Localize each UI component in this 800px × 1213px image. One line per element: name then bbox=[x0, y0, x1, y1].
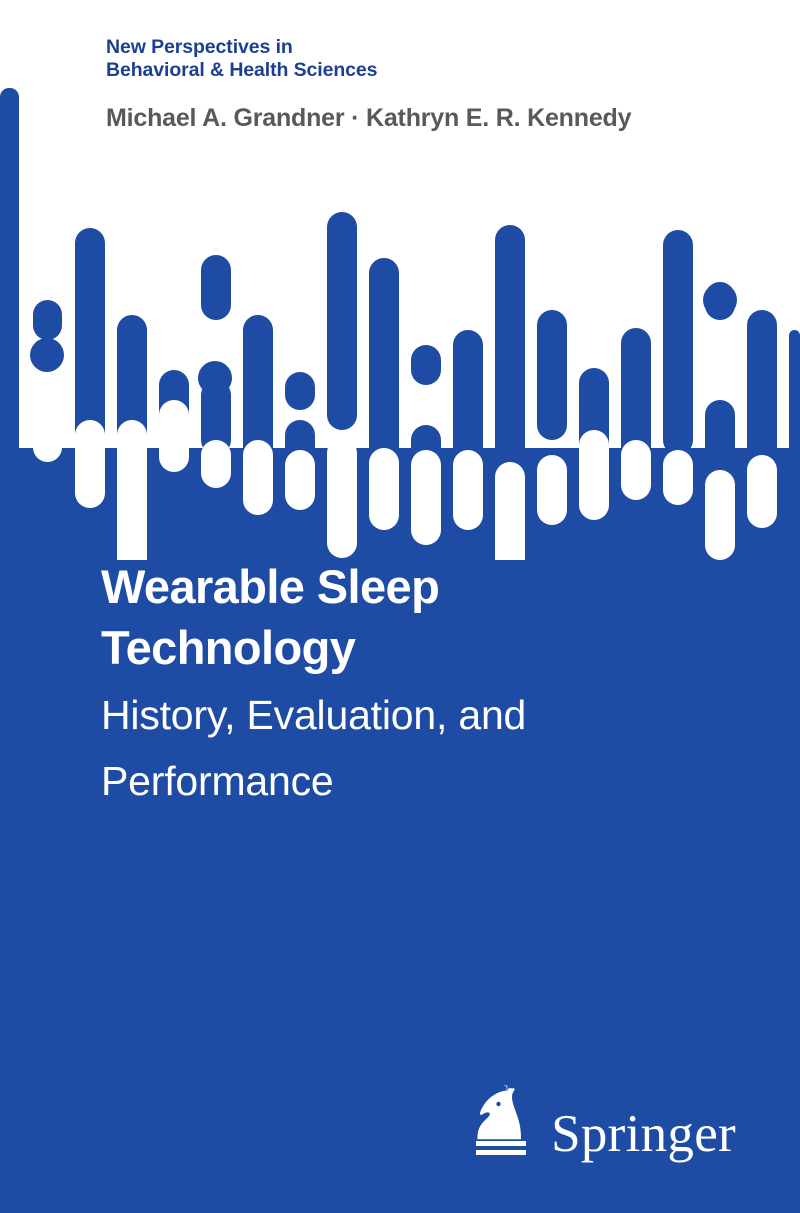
book-subtitle-line-2: Performance bbox=[101, 752, 751, 810]
publisher-name: Springer bbox=[551, 1108, 736, 1161]
springer-knight-icon bbox=[467, 1083, 537, 1159]
book-title-line-2: Technology bbox=[101, 617, 751, 678]
author-names: Michael A. Grandner · Kathryn E. R. Kenn… bbox=[106, 104, 746, 133]
series-title: New Perspectives in Behavioral & Health … bbox=[106, 36, 726, 82]
series-bar-graphic bbox=[0, 0, 800, 560]
white-field-mask bbox=[19, 0, 33, 88]
book-subtitle-line-1: History, Evaluation, and bbox=[101, 686, 751, 744]
series-title-line-1: New Perspectives in bbox=[106, 36, 726, 59]
book-title-line-1: Wearable Sleep bbox=[101, 556, 751, 617]
publisher-logo: Springer bbox=[467, 1083, 736, 1159]
title-block: Wearable Sleep Technology History, Evalu… bbox=[101, 556, 751, 810]
book-cover: New Perspectives in Behavioral & Health … bbox=[0, 0, 800, 1213]
series-title-line-2: Behavioral & Health Sciences bbox=[106, 59, 726, 82]
